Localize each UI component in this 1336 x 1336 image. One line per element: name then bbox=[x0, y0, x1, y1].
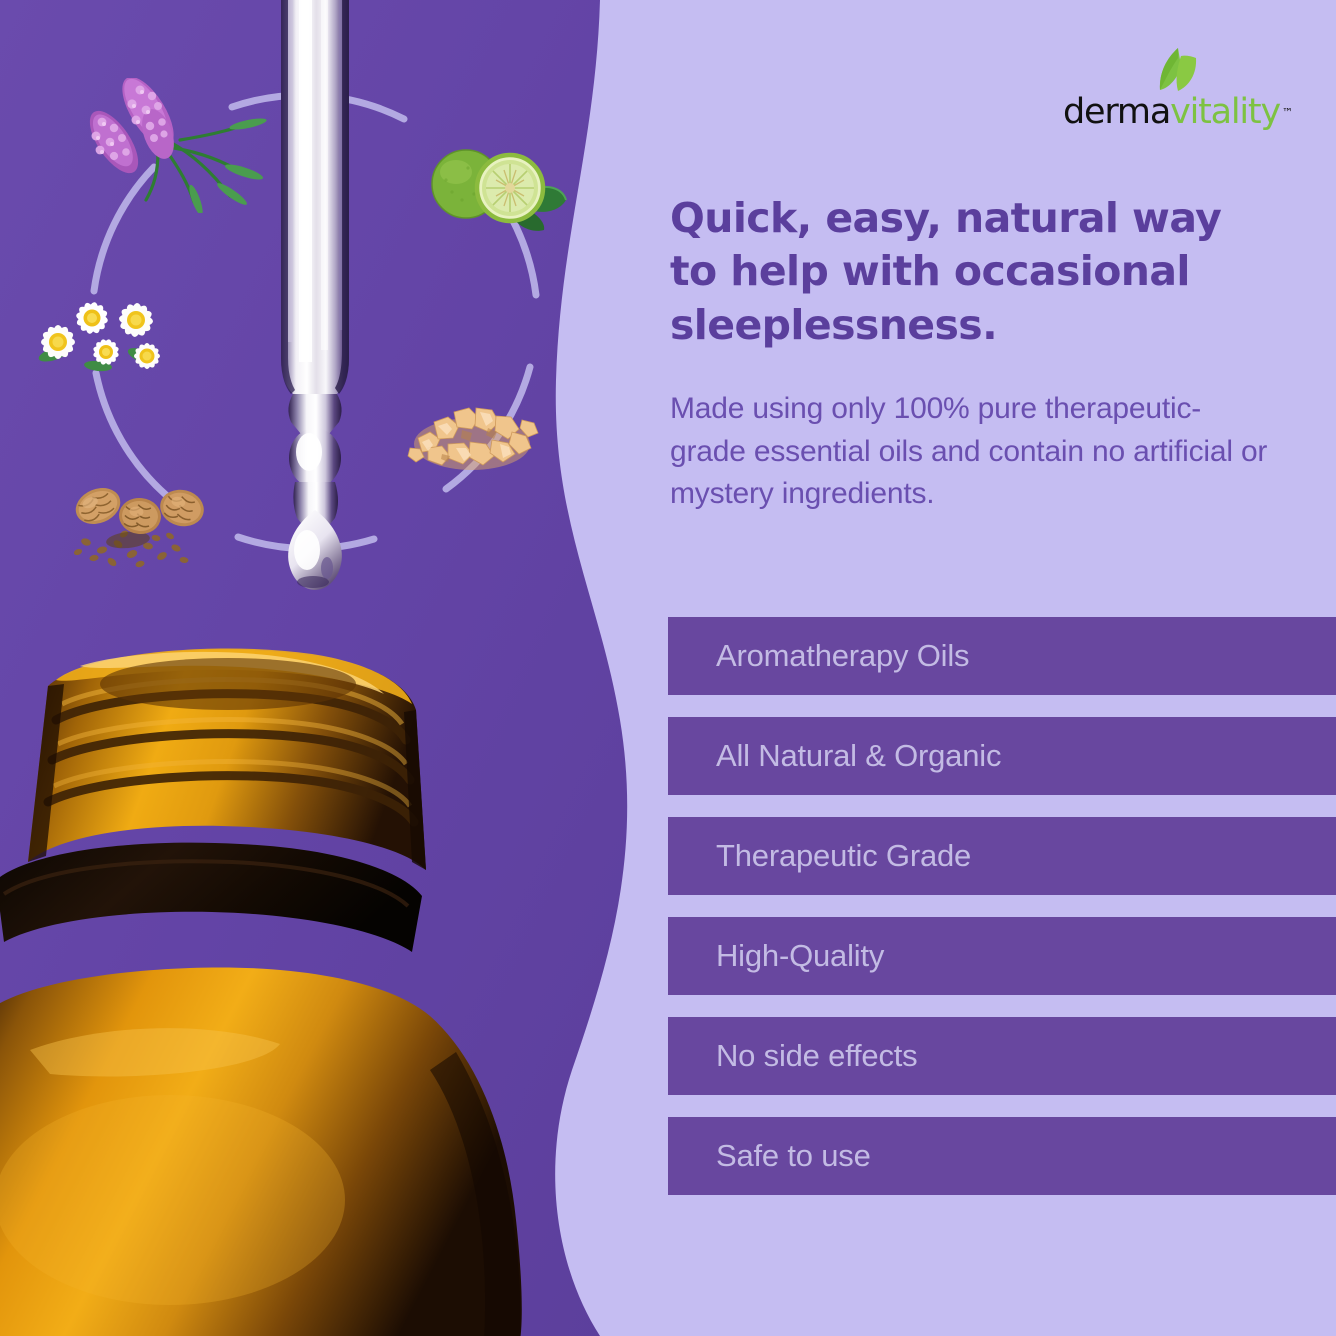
bergamot-citrus bbox=[418, 138, 568, 238]
subcopy-paragraph: Made using only 100% pure therapeutic-gr… bbox=[670, 388, 1270, 516]
headline-line-2: to help with occasional bbox=[670, 245, 1270, 298]
chamomile-flowers bbox=[14, 276, 179, 381]
feature-label: Aromatherapy Oils bbox=[668, 638, 969, 674]
feature-bar: High-Quality bbox=[668, 917, 1336, 995]
headline-line-3: sleeplessness. bbox=[670, 299, 1270, 352]
product-infographic: derma vitality ™ Quick, easy, natural wa… bbox=[0, 0, 1336, 1336]
content-column: Quick, easy, natural way to help with oc… bbox=[668, 0, 1336, 1336]
amber-glass-bottle bbox=[0, 600, 620, 1336]
feature-bar: All Natural & Organic bbox=[668, 717, 1336, 795]
feature-label: Safe to use bbox=[668, 1138, 871, 1174]
feature-bar: No side effects bbox=[668, 1017, 1336, 1095]
feature-label: All Natural & Organic bbox=[668, 738, 1001, 774]
cedarwood-cones bbox=[58, 466, 238, 576]
page-title: Quick, easy, natural way to help with oc… bbox=[670, 192, 1270, 352]
feature-label: Therapeutic Grade bbox=[668, 838, 971, 874]
headline-line-1: Quick, easy, natural way bbox=[670, 192, 1270, 245]
feature-label: No side effects bbox=[668, 1038, 917, 1074]
feature-bar: Therapeutic Grade bbox=[668, 817, 1336, 895]
glass-dropper-pipette bbox=[255, 0, 375, 590]
feature-bar: Safe to use bbox=[668, 1117, 1336, 1195]
feature-bar: Aromatherapy Oils bbox=[668, 617, 1336, 695]
frankincense-resin bbox=[396, 382, 546, 482]
feature-label: High-Quality bbox=[668, 938, 884, 974]
feature-list: Aromatherapy Oils All Natural & Organic … bbox=[668, 617, 1336, 1217]
lavender-sprig bbox=[62, 78, 277, 213]
